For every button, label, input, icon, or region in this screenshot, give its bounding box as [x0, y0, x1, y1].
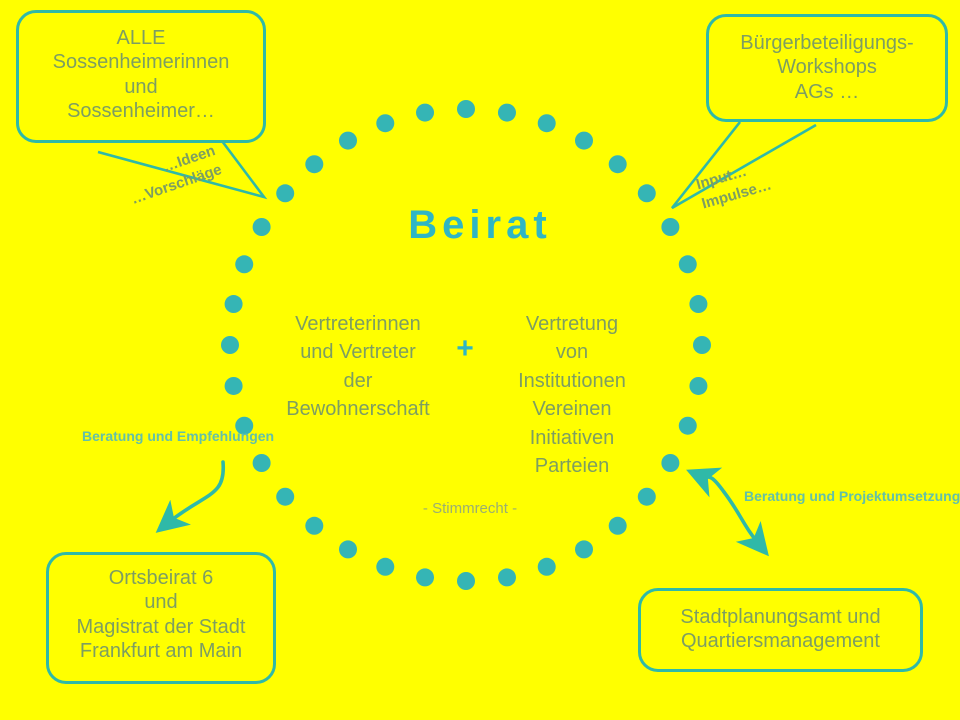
col-left-line-2: und Vertreter — [273, 338, 443, 366]
bubble-stadtplanung-line-1: Stadtplanungsamt und — [641, 605, 920, 629]
label-be-line-1: Beratung und — [82, 428, 173, 444]
label-be-line-2: Empfehlungen — [177, 428, 274, 444]
bubble-stadtplanungsamt: Stadtplanungsamt und Quartiersmanagement — [638, 588, 923, 672]
page-title: Beirat — [0, 203, 960, 248]
col-right-line-3: Institutionen — [487, 367, 657, 395]
bubble-alle-sossenheimer: ALLE Sossenheimerinnen und Sossenheimer… — [16, 10, 266, 143]
column-bewohnerschaft: Vertreterinnen und Vertreter der Bewohne… — [273, 310, 443, 424]
bubble-stadtplanung-line-2: Quartiersmanagement — [641, 629, 920, 653]
bubble-workshops-line-3: AGs … — [709, 80, 945, 104]
label-bp-line-1: Beratung und — [744, 488, 835, 504]
bubble-ortsbeirat-line-1: Ortsbeirat 6 — [49, 566, 273, 590]
bubble-alle-line-4: Sossenheimer… — [19, 99, 263, 123]
bubble-alle-line-1: ALLE — [19, 26, 263, 50]
col-right-line-4: Vereinen — [487, 395, 657, 423]
bubble-ortsbeirat-line-2: und — [49, 590, 273, 614]
arrow-beratung-projekt-up — [696, 474, 724, 492]
arrow-beratung-empfehlungen — [164, 462, 223, 526]
col-right-line-2: von — [487, 338, 657, 366]
stimmrecht-note: - Stimmrecht - — [330, 500, 610, 517]
col-right-line-1: Vertretung — [487, 310, 657, 338]
bubble-workshops-line-2: Workshops — [709, 55, 945, 79]
col-left-line-3: der — [273, 367, 443, 395]
col-left-line-4: Bewohnerschaft — [273, 395, 443, 423]
label-beratung-empfehlungen: Beratung und Empfehlungen — [82, 427, 212, 446]
bubble-ortsbeirat-magistrat: Ortsbeirat 6 und Magistrat der Stadt Fra… — [46, 552, 276, 684]
diagram-canvas: Beirat Vertreterinnen und Vertreter der … — [0, 0, 960, 720]
bubble-ortsbeirat-line-3: Magistrat der Stadt — [49, 615, 273, 639]
bubble-alle-line-3: und — [19, 75, 263, 99]
label-beratung-projektumsetzung: Beratung und Projektumsetzung — [744, 487, 914, 506]
beirat-composition: Vertreterinnen und Vertreter der Bewohne… — [255, 310, 675, 480]
bubble-buergerbeteiligung: Bürgerbeteiligungs- Workshops AGs … — [706, 14, 948, 122]
bubble-ortsbeirat-line-4: Frankfurt am Main — [49, 639, 273, 663]
col-right-line-5: Initiativen — [487, 424, 657, 452]
col-left-line-1: Vertreterinnen — [273, 310, 443, 338]
label-bp-line-2: Projektumsetzung — [839, 488, 960, 504]
col-right-line-6: Parteien — [487, 452, 657, 480]
bubble-workshops-line-1: Bürgerbeteiligungs- — [709, 31, 945, 55]
bubble-alle-line-2: Sossenheimerinnen — [19, 50, 263, 74]
column-institutionen: Vertretung von Institutionen Vereinen In… — [487, 310, 657, 480]
plus-icon: + — [443, 310, 487, 364]
